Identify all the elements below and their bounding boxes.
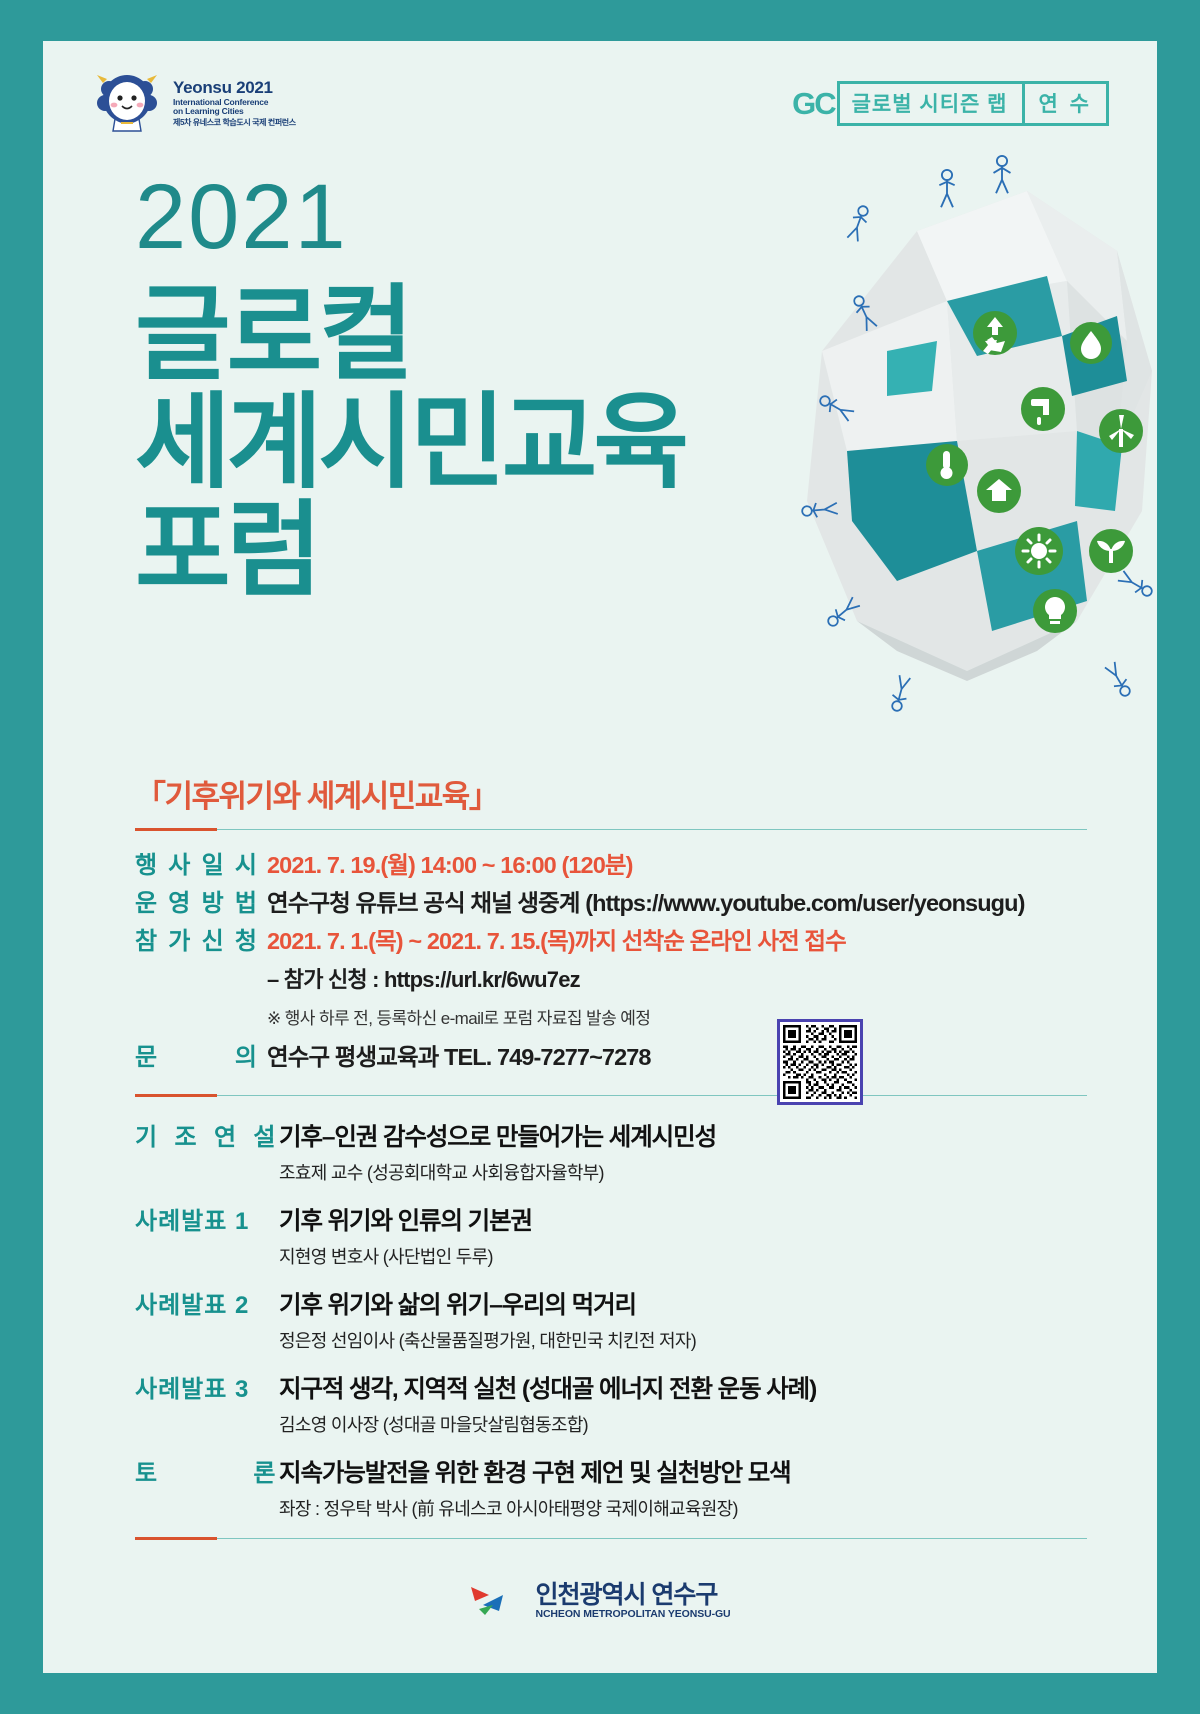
poster-footer: 인천광역시 연수구 NCHEON METROPOLITAN YEONSU-GU — [43, 1581, 1157, 1621]
faucet-icon — [1021, 387, 1065, 431]
conference-brand: Yeonsu 2021 International Conference on … — [91, 69, 296, 135]
divider-red-segment — [135, 828, 217, 831]
poster-header: Yeonsu 2021 International Conference on … — [43, 41, 1157, 151]
program-row-discussion: 토 론 지속가능발전을 위한 환경 구현 제언 및 실천방안 모색 — [135, 1453, 1087, 1489]
label-char: 연 — [214, 1117, 236, 1152]
label-char: 론 — [253, 1453, 275, 1488]
divider-teal-segment — [217, 1538, 1087, 1540]
program-label-case-1: 사례발표 1 — [135, 1201, 275, 1236]
label-char: 신 — [202, 921, 224, 956]
lightbulb-icon — [1033, 589, 1077, 633]
info-label-registration: 참 가 신 청 — [135, 921, 257, 956]
program-title-discussion: 지속가능발전을 위한 환경 구현 제언 및 실천방안 모색 — [275, 1454, 791, 1489]
label-char: 가 — [168, 921, 190, 956]
program-title-case-3: 지구적 생각, 지역적 실천 (성대골 에너지 전환 운동 사례) — [275, 1370, 816, 1405]
content: 「기후위기와 세계시민교육」 행 사 일 시 2021. 7. 19.(월) 1… — [135, 771, 1087, 1554]
divider-teal-segment — [217, 1095, 1087, 1097]
info-value-contact: 연수구 평생교육과 TEL. 749-7277~7278 — [257, 1038, 651, 1072]
program-row-case-2: 사례발표 2 기후 위기와 삶의 위기–우리의 먹거리 — [135, 1285, 1087, 1321]
registration-link-line[interactable]: – 참가 신청 : https://url.kr/6wu7ez — [135, 962, 1087, 994]
label-char: 사 — [168, 845, 190, 880]
water-drop-icon — [1070, 322, 1112, 364]
program-label-keynote: 기 조 연 설 — [135, 1117, 275, 1152]
label-char: 설 — [253, 1117, 275, 1152]
qr-code-svg — [783, 1025, 857, 1099]
hero-year: 2021 — [135, 171, 685, 263]
info-value-registration: 2021. 7. 1.(목) ~ 2021. 7. 15.(목)까지 선착순 온… — [257, 922, 846, 956]
label-char: 방 — [202, 883, 224, 918]
gcl-district: 연 수 — [1025, 81, 1109, 126]
wind-turbine-icon — [1099, 409, 1143, 453]
program-person-case-2: 정은정 선임이사 (축산물품질평가원, 대한민국 치킨전 저자) — [135, 1327, 1087, 1353]
label-char: 토 — [135, 1453, 157, 1488]
program-person-discussion: 좌장 : 정우탁 박사 (前 유네스코 아시아태평양 국제이해교육원장) — [135, 1495, 1087, 1521]
label-char: 일 — [202, 845, 224, 880]
label-char: 시 — [235, 845, 257, 880]
globe-svg — [647, 151, 1157, 791]
program-person-keynote: 조효제 교수 (성공회대학교 사회융합자율학부) — [135, 1159, 1087, 1185]
label-char: 조 — [174, 1117, 196, 1152]
footer-text: 인천광역시 연수구 NCHEON METROPOLITAN YEONSU-GU — [535, 1582, 730, 1619]
program-label-case-2: 사례발표 2 — [135, 1285, 275, 1320]
info-value-method[interactable]: 연수구청 유튜브 공식 채널 생중계 (https://www.youtube.… — [257, 884, 1025, 918]
program-row-case-1: 사례발표 1 기후 위기와 인류의 기본권 — [135, 1201, 1087, 1237]
label-char: 청 — [235, 921, 257, 956]
label-char: 문 — [135, 1037, 157, 1072]
program-row-keynote: 기 조 연 설 기후–인권 감수성으로 만들어가는 세계시민성 — [135, 1117, 1087, 1153]
info-label-date: 행 사 일 시 — [135, 845, 257, 880]
label-char: 영 — [168, 883, 190, 918]
program-person-case-3: 김소영 이사장 (성대골 마을닷살림협동조합) — [135, 1411, 1087, 1437]
label-char: 법 — [235, 883, 257, 918]
divider-bottom — [135, 1537, 1087, 1540]
divider-red-segment — [135, 1094, 217, 1097]
conference-korean: 제5차 유네스코 학습도시 국제 컨퍼런스 — [173, 119, 296, 128]
conference-line2: on Learning Cities — [173, 107, 296, 117]
label-char: 운 — [135, 883, 157, 918]
gcl-mark: GC — [792, 88, 837, 119]
globe-illustration — [647, 151, 1157, 791]
hero-title-line-2: 세계시민교육 — [135, 389, 685, 497]
footer-org-english: NCHEON METROPOLITAN YEONSU-GU — [535, 1609, 730, 1620]
divider-top — [135, 828, 1087, 831]
recycle-icon — [973, 311, 1017, 355]
eco-house-icon — [977, 469, 1021, 513]
label-char: 의 — [235, 1037, 257, 1072]
thermometer-icon — [926, 444, 968, 486]
info-row-contact: 문 의 연수구 평생교육과 TEL. 749-7277~7278 — [135, 1037, 1087, 1072]
info-label-contact: 문 의 — [135, 1037, 257, 1072]
info-row-method: 운 영 방 법 연수구청 유튜브 공식 채널 생중계 (https://www.… — [135, 883, 1087, 918]
program-person-case-1: 지현영 변호사 (사단법인 두루) — [135, 1243, 1087, 1269]
qr-code-icon[interactable] — [777, 1019, 863, 1105]
divider-middle — [135, 1094, 1087, 1097]
program-title-case-1: 기후 위기와 인류의 기본권 — [275, 1202, 532, 1237]
poster: Yeonsu 2021 International Conference on … — [43, 41, 1157, 1673]
program-row-case-3: 사례발표 3 지구적 생각, 지역적 실천 (성대골 에너지 전환 운동 사례) — [135, 1369, 1087, 1405]
global-citizen-lab-badge: GC 글로벌 시티즌 랩 연 수 — [792, 81, 1109, 126]
label-char: 행 — [135, 845, 157, 880]
yeonsu-gu-logo-icon — [469, 1581, 523, 1621]
label-char: 참 — [135, 921, 157, 956]
sun-icon — [1015, 527, 1063, 575]
gcl-label: 글로벌 시티즌 랩 — [837, 81, 1025, 126]
divider-red-segment — [135, 1537, 217, 1540]
hero-title-line-3: 포럼 — [135, 497, 685, 605]
program-label-case-3: 사례발표 3 — [135, 1369, 275, 1404]
label-char: 기 — [135, 1117, 157, 1152]
info-value-date: 2021. 7. 19.(월) 14:00 ~ 16:00 (120분) — [257, 846, 633, 880]
hero-title: 글로컬 세계시민교육 포럼 — [135, 281, 685, 605]
info-row-registration: 참 가 신 청 2021. 7. 1.(목) ~ 2021. 7. 15.(목)… — [135, 921, 1087, 956]
footer-org-korean: 인천광역시 연수구 — [535, 1582, 730, 1608]
hero: 2021 글로컬 세계시민교육 포럼 — [135, 171, 685, 605]
conference-brand-text: Yeonsu 2021 International Conference on … — [173, 76, 296, 127]
program-title-keynote: 기후–인권 감수성으로 만들어가는 세계시민성 — [275, 1118, 716, 1153]
divider-teal-segment — [217, 829, 1087, 831]
hero-title-line-1: 글로컬 — [135, 281, 685, 389]
info-label-method: 운 영 방 법 — [135, 883, 257, 918]
yeonsu-mascot-icon — [91, 69, 163, 135]
info-row-date: 행 사 일 시 2021. 7. 19.(월) 14:00 ~ 16:00 (1… — [135, 845, 1087, 880]
conference-title: Yeonsu 2021 — [173, 78, 296, 97]
program-title-case-2: 기후 위기와 삶의 위기–우리의 먹거리 — [275, 1286, 636, 1321]
sprout-icon — [1089, 529, 1133, 573]
program-label-discussion: 토 론 — [135, 1453, 275, 1488]
registration-note: ※ 행사 하루 전, 등록하신 e-mail로 포럼 자료집 발송 예정 — [135, 1004, 1087, 1029]
